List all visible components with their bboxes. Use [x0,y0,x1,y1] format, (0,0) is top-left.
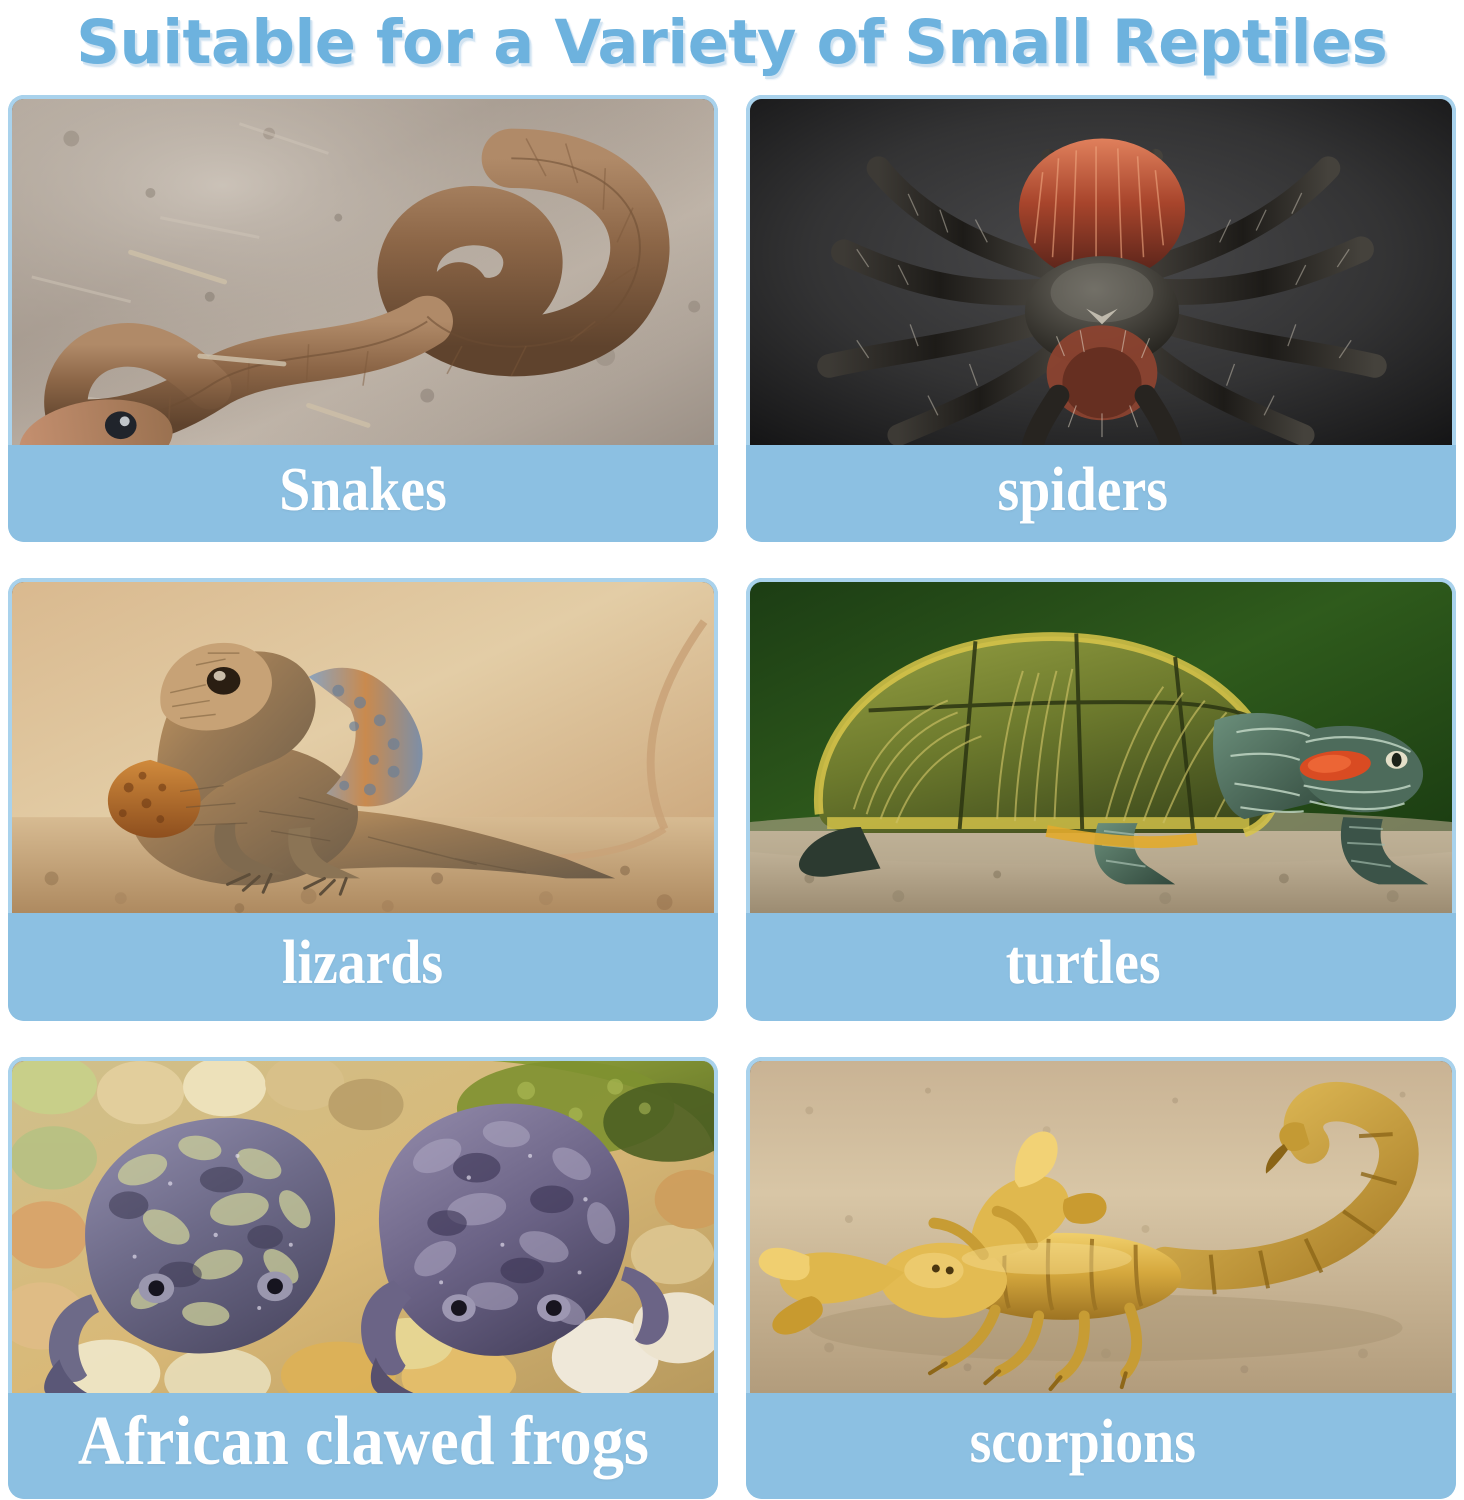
page-title-text: Suitable for a Variety of Small Reptiles [77,12,1388,73]
card-scorpions[interactable]: scorpions [746,1057,1456,1499]
card-label-band: turtles [746,913,1456,1021]
card-label-band: lizards [8,913,718,1021]
card-label-african-clawed-frogs: African clawed frogs [77,1407,648,1477]
snake-on-rock-photo [8,95,718,445]
tarantula-photo [746,95,1456,445]
card-label-band: spiders [746,445,1456,542]
card-label-band: scorpions [746,1393,1456,1499]
card-lizards[interactable]: lizards [8,578,718,1021]
scorpion-photo [746,1057,1456,1393]
card-turtles[interactable]: turtles [746,578,1456,1021]
card-label-scorpions: scorpions [970,1411,1196,1473]
bearded-dragon-photo [8,578,718,913]
card-african-clawed-frogs[interactable]: African clawed frogs [8,1057,718,1499]
african-clawed-frogs-photo [8,1057,718,1393]
card-label-spiders: spiders [998,459,1169,521]
card-label-snakes: Snakes [279,459,446,521]
card-label-turtles: turtles [1006,932,1161,994]
product-feature-panel: Suitable for a Variety of Small Reptiles [0,0,1464,1500]
card-spiders[interactable]: spiders [746,95,1456,542]
page-title: Suitable for a Variety of Small Reptiles [0,0,1464,84]
card-snakes[interactable]: Snakes [8,95,718,542]
reptile-card-grid: Snakes [8,95,1456,1495]
red-eared-slider-turtle-photo [746,578,1456,913]
card-label-band: African clawed frogs [8,1393,718,1499]
card-label-lizards: lizards [282,932,443,994]
card-label-band: Snakes [8,445,718,542]
